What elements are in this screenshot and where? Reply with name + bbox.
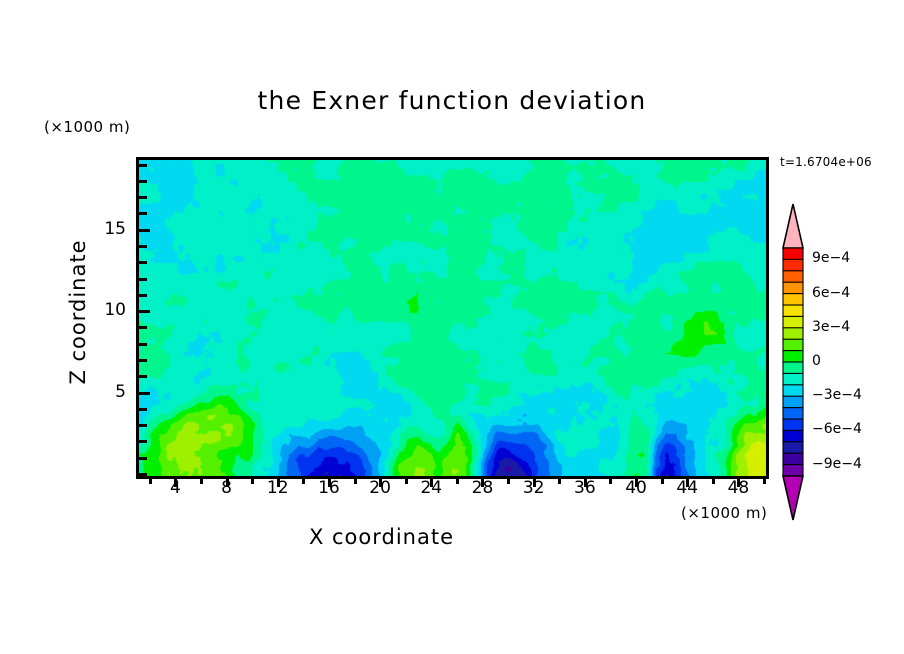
colorbar-band — [783, 453, 803, 465]
x-tick-mark — [149, 476, 152, 484]
y-tick-mark — [139, 196, 147, 199]
y-tick-mark — [139, 392, 150, 395]
y-tick-mark — [139, 408, 147, 411]
colorbar-band — [783, 351, 803, 363]
y-axis-title: Z coordinate — [66, 212, 90, 412]
y-tick-mark — [139, 310, 150, 313]
x-tick-mark — [763, 476, 766, 484]
colorbar-band — [783, 305, 803, 317]
x-tick-label: 40 — [616, 478, 656, 498]
x-tick-mark — [507, 476, 510, 484]
x-tick-mark — [251, 476, 254, 484]
x-tick-label: 12 — [258, 478, 298, 498]
colorbar-band — [783, 373, 803, 385]
colorbar-band — [783, 419, 803, 431]
colorbar-tick-label: 0 — [812, 353, 821, 369]
colorbar-under-arrow — [783, 476, 803, 520]
timestamp-annotation: t=1.6704e+06 — [780, 155, 872, 169]
contour-plot-area — [136, 157, 769, 479]
x-tick-mark — [302, 476, 305, 484]
colorbar-band — [783, 328, 803, 340]
colorbar-band — [783, 385, 803, 397]
colorbar-over-arrow — [783, 204, 803, 248]
x-axis-units-label: (×1000 m) — [681, 504, 767, 522]
y-tick-mark — [139, 375, 147, 378]
colorbar-tick-label: −3e−4 — [812, 387, 862, 403]
page-title: the Exner function deviation — [0, 86, 904, 115]
y-axis-units-label: (×1000 m) — [44, 118, 130, 136]
colorbar-tick-label: 6e−4 — [812, 285, 850, 301]
colorbar-band — [783, 248, 803, 260]
y-tick-label: 5 — [96, 382, 126, 402]
x-tick-mark — [405, 476, 408, 484]
colorbar-band — [783, 282, 803, 294]
colorbar-tick-label: 9e−4 — [812, 250, 850, 266]
y-tick-mark — [139, 278, 147, 281]
colorbar-band — [783, 294, 803, 306]
y-tick-mark — [139, 229, 150, 232]
y-tick-mark — [139, 359, 147, 362]
x-tick-label: 8 — [207, 478, 247, 498]
colorbar-tick-label: 3e−4 — [812, 319, 850, 335]
x-tick-label: 16 — [309, 478, 349, 498]
x-tick-label: 32 — [514, 478, 554, 498]
x-tick-mark — [354, 476, 357, 484]
y-tick-mark — [139, 457, 147, 460]
colorbar-band — [783, 442, 803, 454]
colorbar-band — [783, 362, 803, 374]
x-tick-label: 44 — [667, 478, 707, 498]
x-tick-mark — [712, 476, 715, 484]
x-tick-mark — [558, 476, 561, 484]
x-tick-label: 24 — [411, 478, 451, 498]
colorbar-band — [783, 396, 803, 408]
x-tick-label: 48 — [718, 478, 758, 498]
y-tick-mark — [139, 245, 147, 248]
x-tick-mark — [609, 476, 612, 484]
x-tick-label: 28 — [462, 478, 502, 498]
y-tick-mark — [139, 212, 147, 215]
y-tick-mark — [139, 343, 147, 346]
x-tick-label: 36 — [565, 478, 605, 498]
x-tick-mark — [661, 476, 664, 484]
contour-field-canvas — [139, 160, 766, 476]
x-tick-label: 20 — [360, 478, 400, 498]
x-tick-mark — [456, 476, 459, 484]
x-tick-mark — [200, 476, 203, 484]
y-tick-mark — [139, 180, 147, 183]
y-tick-mark — [139, 473, 147, 476]
y-tick-label: 10 — [96, 300, 126, 320]
y-tick-mark — [139, 440, 147, 443]
colorbar-band — [783, 430, 803, 442]
y-tick-mark — [139, 164, 147, 167]
figure-root: the Exner function deviation (×1000 m) (… — [0, 0, 904, 654]
colorbar-band — [783, 259, 803, 271]
y-tick-label: 15 — [96, 219, 126, 239]
colorbar-band — [783, 271, 803, 283]
colorbar-tick-label: −9e−4 — [812, 456, 862, 472]
y-tick-mark — [139, 261, 147, 264]
x-axis-title: X coordinate — [0, 525, 763, 549]
colorbar-band — [783, 316, 803, 328]
colorbar-band — [783, 465, 803, 477]
colorbar-band — [783, 339, 803, 351]
colorbar-tick-label: −6e−4 — [812, 421, 862, 437]
colorbar — [781, 203, 805, 521]
y-tick-mark — [139, 326, 147, 329]
y-tick-mark — [139, 424, 147, 427]
x-tick-label: 4 — [155, 478, 195, 498]
colorbar-band — [783, 408, 803, 420]
y-tick-mark — [139, 294, 147, 297]
